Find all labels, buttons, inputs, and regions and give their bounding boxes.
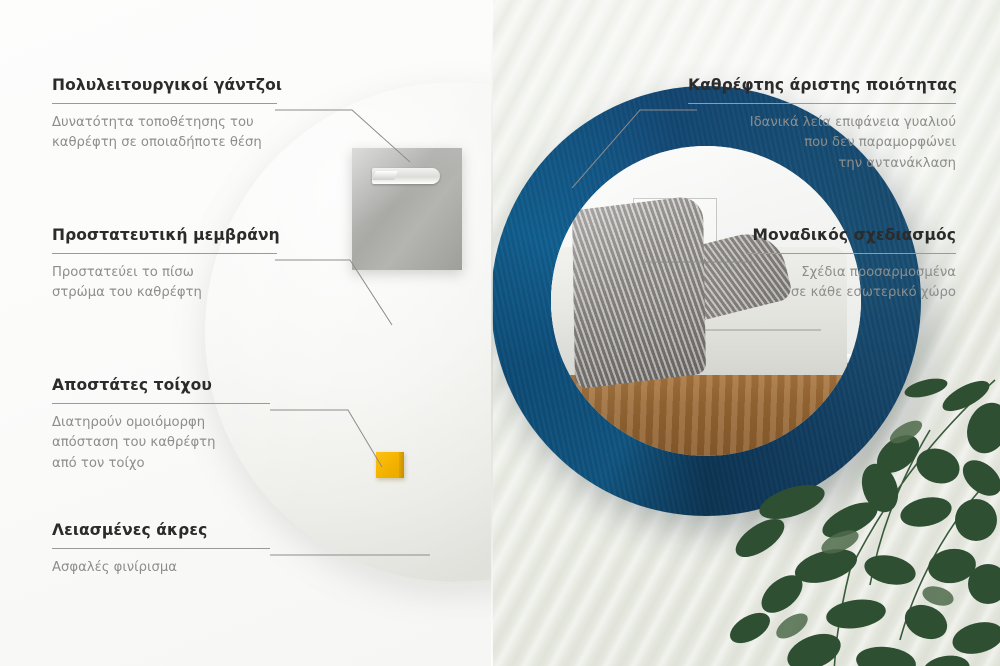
callout-hooks-rule xyxy=(52,103,277,104)
desc-line: Διατηρούν ομοιόμορφη xyxy=(52,413,270,433)
callout-quality-title: Καθρέφτης άριστης ποιότητας xyxy=(688,76,956,95)
hook-bracket-plate xyxy=(352,148,462,270)
desc-line: καθρέφτη σε οποιαδήποτε θέση xyxy=(52,133,277,153)
callout-design-title: Μοναδικός σχεδιασμός xyxy=(746,226,956,245)
desc-line: Ασφαλές φινίρισμα xyxy=(52,558,270,578)
callout-quality: Καθρέφτης άριστης ποιότητας Ιδανικά λεία… xyxy=(688,76,956,174)
desc-line: από τον τοίχο xyxy=(52,454,270,474)
callout-hooks-title: Πολυλειτουργικοί γάντζοι xyxy=(52,76,277,95)
panel-divider xyxy=(491,0,493,666)
desc-line: Ιδανικά λεία επιφάνεια γυαλιού xyxy=(688,113,956,133)
desc-line: στρώμα του καθρέφτη xyxy=(52,283,277,303)
desc-line: Δυνατότητα τοποθέτησης του xyxy=(52,113,277,133)
callout-edges-desc: Ασφαλές φινίρισμα xyxy=(52,558,270,578)
infographic-stage: Πολυλειτουργικοί γάντζοι Δυνατότητα τοπο… xyxy=(0,0,1000,666)
callout-hooks-desc: Δυνατότητα τοποθέτησης του καθρέφτη σε ο… xyxy=(52,113,277,154)
desc-line: Σχέδια προσαρμοσμένα xyxy=(746,263,956,283)
desc-line: που δεν παραμορφώνει xyxy=(688,133,956,153)
callout-spacers-rule xyxy=(52,403,270,404)
callout-edges: Λειασμένες άκρες Ασφαλές φινίρισμα xyxy=(52,521,270,578)
callout-design: Μοναδικός σχεδιασμός Σχέδια προσαρμοσμέν… xyxy=(746,226,956,304)
desc-line: απόσταση του καθρέφτη xyxy=(52,433,270,453)
callout-quality-rule xyxy=(688,103,956,104)
callout-edges-rule xyxy=(52,548,270,549)
hook-slot-icon xyxy=(372,168,440,184)
callout-edges-title: Λειασμένες άκρες xyxy=(52,521,270,540)
callout-spacers-title: Αποστάτες τοίχου xyxy=(52,376,270,395)
desc-line: την αντανάκλαση xyxy=(688,154,956,174)
desc-line: σε κάθε εσωτερικό χώρο xyxy=(746,283,956,303)
wall-spacer-chip xyxy=(376,452,404,478)
callout-membrane: Προστατευτική μεμβράνη Προστατεύει το πί… xyxy=(52,226,277,304)
callout-spacers: Αποστάτες τοίχου Διατηρούν ομοιόμορφη απ… xyxy=(52,376,270,474)
callout-membrane-desc: Προστατεύει το πίσω στρώμα του καθρέφτη xyxy=(52,263,277,304)
callout-quality-desc: Ιδανικά λεία επιφάνεια γυαλιού που δεν π… xyxy=(688,113,956,174)
callout-membrane-title: Προστατευτική μεμβράνη xyxy=(52,226,277,245)
callout-design-rule xyxy=(746,253,956,254)
callout-spacers-desc: Διατηρούν ομοιόμορφη απόσταση του καθρέφ… xyxy=(52,413,270,474)
callout-membrane-rule xyxy=(52,253,277,254)
foliage-decoration xyxy=(730,370,1000,666)
callout-design-desc: Σχέδια προσαρμοσμένα σε κάθε εσωτερικό χ… xyxy=(746,263,956,304)
callout-hooks: Πολυλειτουργικοί γάντζοι Δυνατότητα τοπο… xyxy=(52,76,277,154)
desc-line: Προστατεύει το πίσω xyxy=(52,263,277,283)
